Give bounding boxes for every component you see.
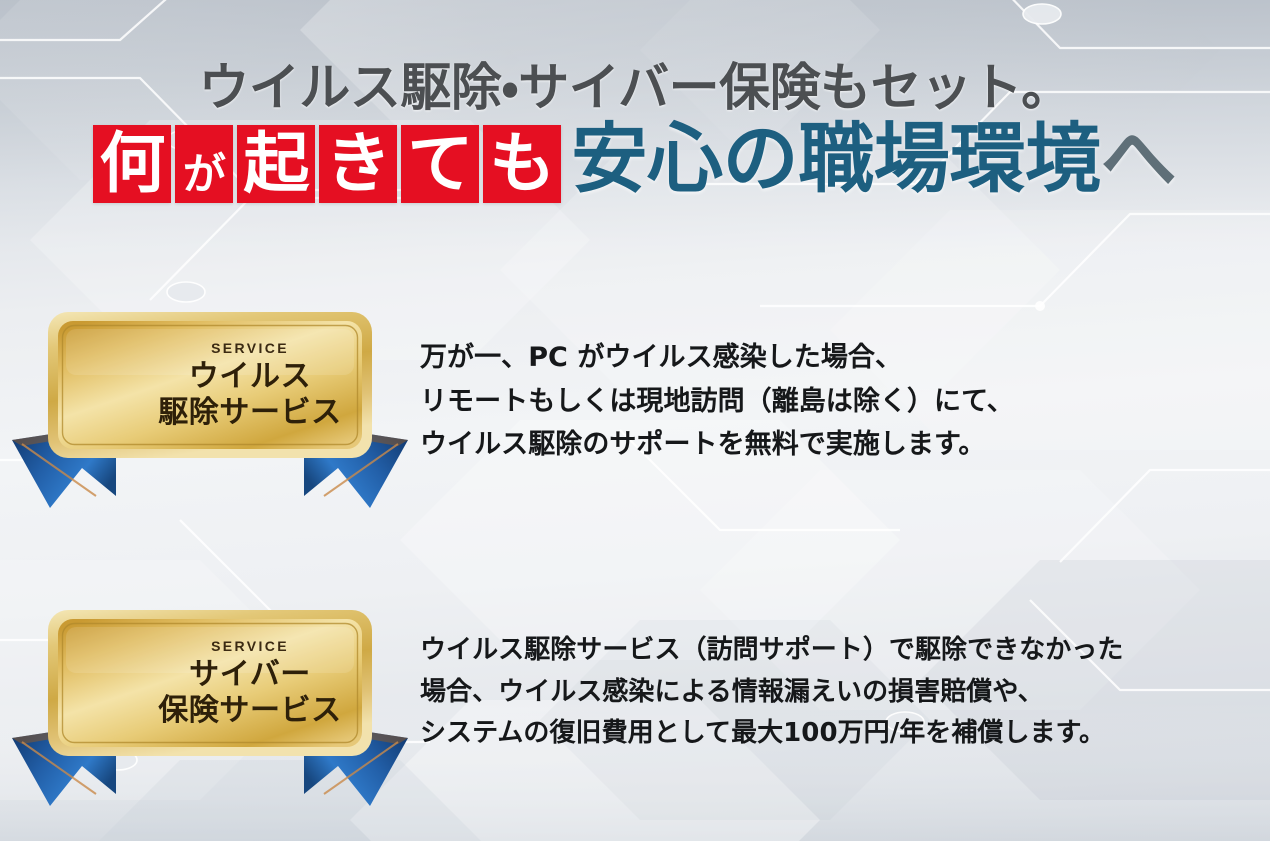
headline-top-line: ウイルス駆除・サイバー保険もセット。: [0, 62, 1270, 116]
description-line: ウイルス駆除サービス（訪問サポート）で駆除できなかった: [420, 630, 1123, 672]
keyword-box-1: 何: [93, 125, 171, 203]
keyword-box-2: が: [175, 125, 233, 203]
description-line: リモートもしくは現地訪問（離島は除く）にて、: [420, 380, 1014, 424]
highlighted-keyword-boxes: 何 が 起 き て も: [93, 123, 561, 203]
description-line: ウイルス駆除のサポートを無料で実施します。: [420, 423, 1014, 467]
service-badge-virus-removal: SERVICE ウイルス 駆除サービス: [0, 300, 420, 515]
headline-block: ウイルス駆除・サイバー保険もセット。 何 が 起 き て も 安心の職場環境 へ: [0, 62, 1270, 203]
description-line: 万が一、PC がウイルス感染した場合、: [420, 336, 1014, 380]
headline-tail-text: へ: [1101, 123, 1177, 196]
keyword-box-4: き: [319, 125, 397, 203]
security-service-banner: ウイルス駆除・サイバー保険もセット。 何 が 起 き て も 安心の職場環境 へ: [0, 0, 1270, 841]
keyword-box-3: 起: [237, 125, 315, 203]
description-line: 場合、ウイルス感染による情報漏えいの損害賠償や、: [420, 672, 1123, 714]
service-description-cyber-insurance: ウイルス駆除サービス（訪問サポート）で駆除できなかった 場合、ウイルス感染による…: [420, 598, 1123, 755]
service-badge-cyber-insurance: SERVICE サイバー 保険サービス: [0, 598, 420, 813]
service-row-cyber-insurance: SERVICE サイバー 保険サービス ウイルス駆除サービス（訪問サポート）で駆…: [0, 598, 1123, 813]
service-row-virus-removal: SERVICE ウイルス 駆除サービス 万が一、PC がウイルス感染した場合、 …: [0, 300, 1014, 515]
description-line: システムの復旧費用として最大100万円/年を補償します。: [420, 713, 1123, 755]
headline-main-line: 何 が 起 き て も 安心の職場環境 へ: [0, 123, 1270, 203]
headline-blue-text: 安心の職場環境: [571, 123, 1100, 196]
service-description-virus-removal: 万が一、PC がウイルス感染した場合、 リモートもしくは現地訪問（離島は除く）に…: [420, 300, 1014, 467]
keyword-box-5: て: [401, 125, 479, 203]
keyword-box-6: も: [483, 125, 561, 203]
